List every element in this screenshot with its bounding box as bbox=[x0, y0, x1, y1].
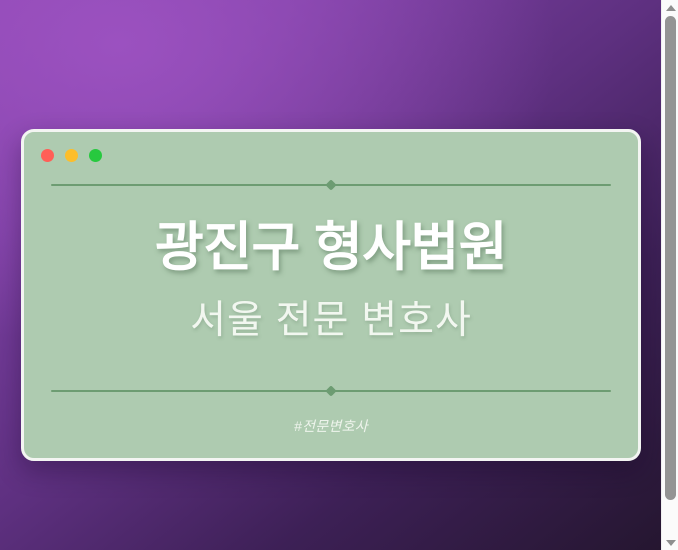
card-subtitle: 서울 전문 변호사 bbox=[190, 299, 472, 344]
divider-top bbox=[51, 178, 611, 192]
divider-diamond-icon bbox=[325, 385, 336, 396]
divider-diamond-icon bbox=[325, 179, 336, 190]
scroll-down-arrow-icon[interactable] bbox=[662, 535, 678, 550]
app-viewport: 광진구 형사법원 서울 전문 변호사 #전문변호사 bbox=[0, 0, 678, 550]
gradient-backdrop: 광진구 형사법원 서울 전문 변호사 #전문변호사 bbox=[0, 0, 661, 550]
card-title: 광진구 형사법원 bbox=[155, 218, 507, 277]
scrollbar-thumb[interactable] bbox=[665, 16, 676, 500]
scroll-up-arrow-icon[interactable] bbox=[662, 0, 678, 15]
card-content: 광진구 형사법원 서울 전문 변호사 #전문변호사 bbox=[24, 132, 638, 458]
preview-card: 광진구 형사법원 서울 전문 변호사 #전문변호사 bbox=[21, 129, 641, 461]
divider-bottom bbox=[51, 384, 611, 398]
triangle-down-icon bbox=[666, 540, 676, 546]
vertical-scrollbar[interactable] bbox=[661, 0, 678, 550]
triangle-up-icon bbox=[666, 5, 676, 11]
card-hashtag: #전문변호사 bbox=[294, 416, 368, 436]
